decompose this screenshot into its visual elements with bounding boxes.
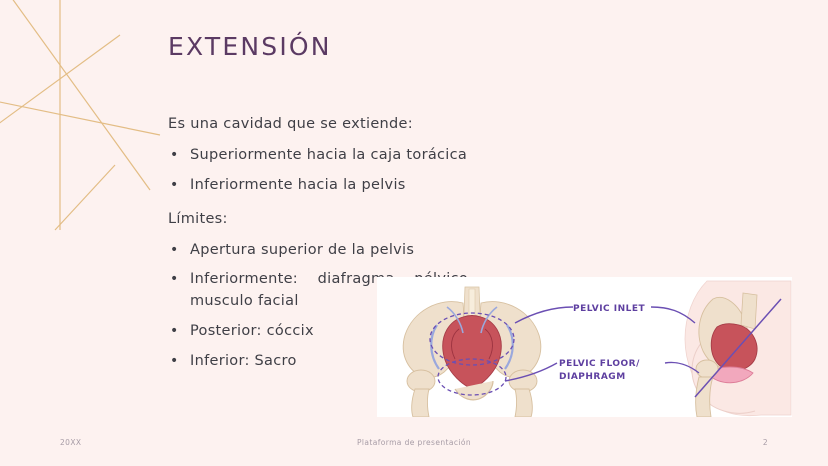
label-pelvic-inlet: PELVIC INLET [573, 304, 646, 314]
page-title: EXTENSIÓN [168, 32, 332, 61]
figure-right-panel [685, 281, 791, 417]
list-item: Superiormente hacia la caja torácica [168, 145, 468, 167]
label-pelvic-floor: PELVIC FLOOR/ [559, 359, 640, 369]
list-item: Apertura superior de la pelvis [168, 240, 468, 262]
slide: EXTENSIÓN Es una cavidad que se extiende… [0, 0, 828, 466]
first-bullet-list: Superiormente hacia la caja torácica Inf… [168, 145, 468, 197]
slide-footer: 20XX Plataforma de presentación 2 [0, 438, 828, 452]
pelvic-anatomy-figure: PELVIC INLET PELVIC FLOOR/ DIAPHRAGM [377, 277, 792, 417]
pelvic-anatomy-diagram: PELVIC INLET PELVIC FLOOR/ DIAPHRAGM [377, 277, 792, 417]
label-diaphragm: DIAPHRAGM [559, 372, 626, 382]
footer-page-number: 2 [763, 438, 768, 447]
footer-center-text: Plataforma de presentación [0, 438, 828, 447]
list-item: Inferiormente hacia la pelvis [168, 175, 468, 197]
intro-text: Es una cavidad que se extiende: [168, 114, 468, 135]
limits-heading: Límites: [168, 209, 468, 230]
